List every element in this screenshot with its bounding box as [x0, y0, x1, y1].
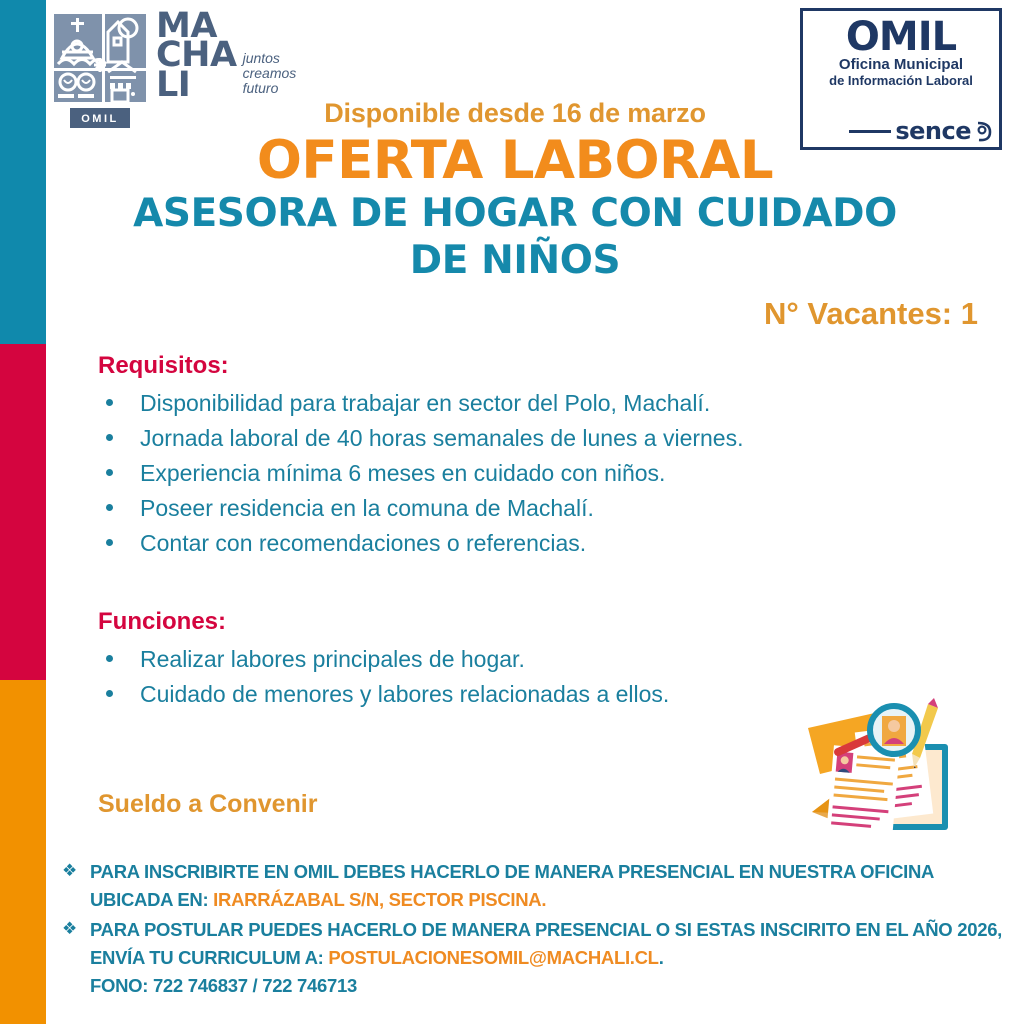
offer-title: OFERTA LABORAL [120, 131, 910, 190]
headline-block: Disponible desde 16 de marzo OFERTA LABO… [120, 98, 910, 284]
machali-tagline: juntos creamos futuro [243, 51, 297, 100]
stripe-segment-crimson [0, 344, 46, 680]
list-item: Disponibilidad para trabajar en sector d… [98, 386, 898, 421]
diamond-bullet-icon: ❖ [62, 862, 77, 879]
omil-subtitle-line1: Oficina Municipal [813, 57, 989, 74]
bullet-dot-icon [106, 434, 113, 441]
duties-list: Realizar labores principales de hogar. C… [98, 642, 898, 712]
bullet-dot-icon [106, 469, 113, 476]
list-item: Realizar labores principales de hogar. [98, 642, 898, 677]
list-item: Cuidado de menores y labores relacionada… [98, 677, 898, 712]
requirements-section: Requisitos: Disponibilidad para trabajar… [98, 352, 898, 561]
bullet-dot-icon [106, 399, 113, 406]
footer-register-text: PARA INSCRIBIRTE EN OMIL DEBES HACERLO D… [90, 858, 1010, 914]
bullet-dot-icon [106, 690, 113, 697]
machali-wordmark: MA CHA LI [156, 12, 237, 100]
salary-text: Sueldo a Convenir [98, 790, 317, 819]
machali-tagline-line1: juntos [243, 51, 297, 66]
cv-document-front-icon [826, 745, 899, 838]
footer-office-address: IRARRÁZABAL S/N, SECTOR PISCINA. [213, 889, 546, 910]
omil-subtitle-line2: de Información Laboral [813, 74, 989, 88]
bullet-dot-icon [106, 504, 113, 511]
stripe-segment-teal [0, 0, 46, 344]
footer-email-address[interactable]: POSTULACIONESOMIL@MACHALI.CL [328, 947, 658, 968]
machali-emblem-label: OMIL [81, 113, 119, 125]
requirements-list: Disponibilidad para trabajar en sector d… [98, 386, 898, 561]
omil-title: OMIL [813, 17, 989, 57]
list-item-text: Poseer residencia en la comuna de Machal… [140, 495, 594, 521]
list-item-text: Realizar labores principales de hogar. [140, 646, 525, 672]
bullet-dot-icon [106, 655, 113, 662]
position-title-line2: DE NIÑOS [120, 239, 910, 284]
list-item-text: Disponibilidad para trabajar en sector d… [140, 390, 710, 416]
machali-wordmark-line3: LI [156, 71, 237, 100]
list-item: Experiencia mínima 6 meses en cuidado co… [98, 456, 898, 491]
footer-apply-part2: . [659, 947, 664, 968]
list-item: Poseer residencia en la comuna de Machal… [98, 491, 898, 526]
position-title-line1: ASESORA DE HOGAR CON CUIDADO [120, 192, 910, 237]
job-offer-poster: OMIL MA CHA LI juntos creamos futuro OMI… [0, 0, 1024, 1024]
list-item-text: Experiencia mínima 6 meses en cuidado co… [140, 460, 665, 486]
footer-item-register: ❖ PARA INSCRIBIRTE EN OMIL DEBES HACERLO… [60, 858, 1010, 914]
diamond-bullet-icon: ❖ [62, 920, 77, 937]
sence-swirl-icon [975, 120, 993, 142]
list-item: Contar con recomendaciones o referencias… [98, 526, 898, 561]
requirements-heading: Requisitos: [98, 352, 898, 380]
footer-item-apply: ❖ PARA POSTULAR PUEDES HACERLO DE MANERA… [60, 916, 1010, 1000]
list-item: Jornada laboral de 40 horas semanales de… [98, 421, 898, 456]
machali-tagline-line2: creamos [243, 66, 297, 81]
vacancies-count: N° Vacantes: 1 [764, 296, 978, 332]
duties-heading: Funciones: [98, 608, 898, 636]
availability-text: Disponible desde 16 de marzo [120, 98, 910, 129]
machali-tagline-line3: futuro [243, 81, 297, 96]
list-item-text: Cuidado de menores y labores relacionada… [140, 681, 669, 707]
footer-contact-block: ❖ PARA INSCRIBIRTE EN OMIL DEBES HACERLO… [60, 858, 1010, 1003]
bullet-dot-icon [106, 539, 113, 546]
list-item-text: Jornada laboral de 40 horas semanales de… [140, 425, 744, 451]
cv-review-illustration [802, 692, 982, 842]
stripe-segment-orange [0, 680, 46, 1024]
duties-section: Funciones: Realizar labores principales … [98, 608, 898, 712]
footer-apply-text: PARA POSTULAR PUEDES HACERLO DE MANERA P… [90, 916, 1010, 972]
footer-phone: FONO: 722 746837 / 722 746713 [90, 972, 1010, 1000]
list-item-text: Contar con recomendaciones o referencias… [140, 530, 586, 556]
